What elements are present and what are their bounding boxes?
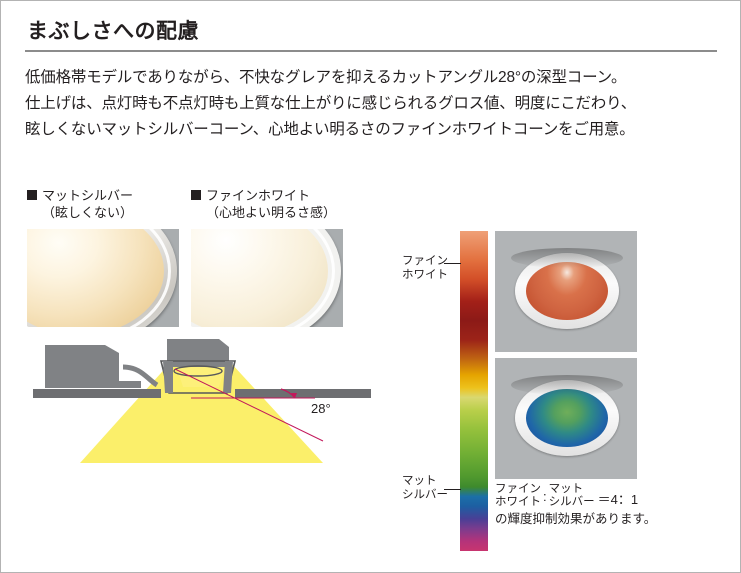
cone-illustration xyxy=(27,229,177,327)
scale-label-fine-white-line2: ホワイト xyxy=(402,268,448,282)
ratio-right-line2: シルバー xyxy=(549,496,595,509)
ratio-left-term: ファイン ホワイト xyxy=(495,483,541,509)
luminance-scale-bar xyxy=(460,231,488,551)
luminance-core-high xyxy=(526,262,608,320)
intro-line-1: 低価格帯モデルでありながら、不快なグレアを抑えるカットアングル28°の深型コーン… xyxy=(25,65,725,91)
swatch-sublabel-matt-silver: （眩しくない） xyxy=(27,204,133,221)
photo-matt-silver-cone xyxy=(27,229,179,327)
intro-paragraph: 低価格帯モデルでありながら、不快なグレアを抑えるカットアングル28°の深型コーン… xyxy=(25,65,725,143)
fixture-housing xyxy=(167,339,229,367)
bullet-square-icon xyxy=(191,190,201,200)
power-supply-base xyxy=(45,381,141,388)
swatch-caption-fine-white: ファインホワイト （心地よい明るさ感） xyxy=(191,187,336,221)
luminance-core-low xyxy=(526,389,608,447)
intro-line-2: 仕上げは、点灯時も不点灯時も上質な仕上がりに感じられるグロス値、明度にこだわり、 xyxy=(25,91,725,117)
ceiling-slab-left xyxy=(33,389,161,398)
scale-label-matt-silver-line1: マット xyxy=(402,474,448,488)
ceiling-slab-right xyxy=(235,389,371,398)
ratio-right-line1: マット xyxy=(549,483,595,496)
intro-line-3: 眩しくないマットシルバーコーン、心地よい明るさのファインホワイトコーンをご用意。 xyxy=(25,117,725,143)
ratio-caption: ファイン ホワイト : マット シルバー ＝4：1 の輝度抑制効果があります。 xyxy=(495,483,656,528)
bullet-square-icon xyxy=(27,190,37,200)
ratio-description: の輝度抑制効果があります。 xyxy=(495,509,656,528)
luminance-top-shadow xyxy=(511,375,623,395)
glare-consideration-page: まぶしさへの配慮 低価格帯モデルでありながら、不快なグレアを抑えるカットアングル… xyxy=(0,0,741,573)
ratio-right-term: マット シルバー xyxy=(549,483,595,509)
cone-lip xyxy=(27,229,171,327)
swatch-sublabel-fine-white: （心地よい明るさ感） xyxy=(191,204,336,221)
cross-section-diagram: 28° xyxy=(23,331,383,466)
scale-label-matt-silver: マット シルバー xyxy=(402,474,448,502)
luminance-panel-matt-silver xyxy=(495,358,637,479)
luminance-top-shadow xyxy=(511,248,623,268)
power-supply-box xyxy=(45,345,119,383)
swatch-label-fine-white: ファインホワイト xyxy=(206,188,310,203)
title-divider xyxy=(25,50,717,52)
ratio-left-line1: ファイン xyxy=(495,483,541,496)
scale-label-fine-white-line1: ファイン xyxy=(402,254,448,268)
scale-label-matt-silver-line2: シルバー xyxy=(402,488,448,502)
ratio-row: ファイン ホワイト : マット シルバー ＝4：1 xyxy=(495,483,656,509)
leader-line-matt-silver xyxy=(444,489,461,490)
ratio-left-line2: ホワイト xyxy=(495,496,541,509)
leader-line-fine-white xyxy=(444,263,461,264)
ratio-colon: : xyxy=(541,489,549,504)
angle-label: 28° xyxy=(311,401,331,416)
ratio-value: ＝4：1 xyxy=(595,489,638,509)
cone-lip xyxy=(191,229,335,327)
page-title: まぶしさへの配慮 xyxy=(27,15,199,45)
swatch-label-matt-silver: マットシルバー xyxy=(42,188,133,203)
swatch-caption-matt-silver: マットシルバー （眩しくない） xyxy=(27,187,133,221)
photo-fine-white-cone xyxy=(191,229,343,327)
scale-label-fine-white: ファイン ホワイト xyxy=(402,254,448,282)
luminance-panel-fine-white xyxy=(495,231,637,352)
cone-illustration xyxy=(191,229,341,327)
